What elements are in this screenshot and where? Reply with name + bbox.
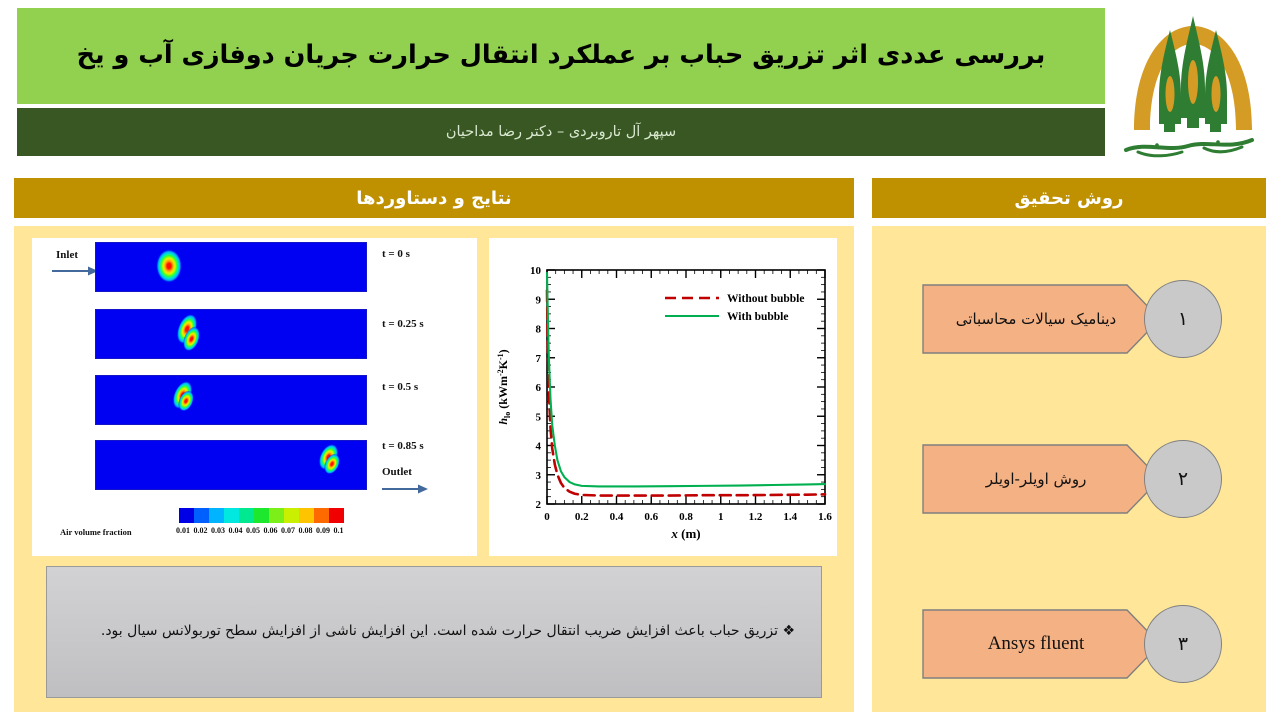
heat-transfer-coefficient-chart: 00.20.40.60.811.21.41.62345678910x (m)hl…: [489, 238, 837, 556]
conclusion-body: تزریق حباب باعث افزایش ضریب انتقال حرارت…: [101, 623, 778, 639]
colorbar-swatch-10: [329, 508, 344, 523]
contour-strip-t0: [95, 242, 367, 292]
step-arrow-shape-icon: [922, 609, 1162, 679]
poster-title-bar: بررسی عددی اثر تزریق حباب بر عملکرد انتق…: [17, 8, 1105, 104]
y-tick-1: 3: [536, 470, 542, 482]
colorbar-tick-5: 0.06: [264, 526, 278, 535]
colorbar-tick-9: 0.1: [334, 526, 344, 535]
colorbar-tick-4: 0.05: [246, 526, 260, 535]
colorbar-swatch-5: [254, 508, 269, 523]
x-tick-5: 1: [718, 511, 724, 523]
method-step-2[interactable]: روش اویلر-اویلر ۲: [922, 444, 1232, 514]
x-tick-3: 0.6: [644, 511, 658, 523]
x-tick-8: 1.6: [818, 511, 832, 523]
colorbar: [179, 508, 344, 523]
contour-time-label-0: t = 0 s: [382, 248, 410, 260]
conclusion-text: ❖ تزریق حباب باعث افزایش ضریب انتقال حرا…: [47, 619, 821, 645]
poster-authors: سپهر آل تاروبردی – دکتر رضا مداحیان: [446, 124, 676, 140]
legend-label-0: Without bubble: [727, 293, 804, 305]
section-header-method-label: روش تحقیق: [1015, 188, 1124, 209]
x-tick-4: 0.8: [679, 511, 693, 523]
colorbar-tick-labels: 0.010.020.030.040.050.060.070.080.090.1: [176, 526, 366, 535]
inlet-arrow-icon: [52, 265, 98, 277]
colorbar-swatch-8: [299, 508, 314, 523]
step-arrow-shape-icon: [922, 284, 1162, 354]
colorbar-swatch-2: [209, 508, 224, 523]
y-tick-7: 9: [536, 294, 542, 306]
plot-frame: [547, 270, 825, 504]
colorbar-tick-8: 0.09: [316, 526, 330, 535]
colorbar-title: Air volume fraction: [60, 527, 132, 537]
contour-time-label-2: t = 0.5 s: [382, 381, 418, 393]
step-arrow-shape-icon: [922, 444, 1162, 514]
outlet-label: Outlet: [382, 466, 412, 478]
method-step-1[interactable]: دینامیک سیالات محاسباتی ۱: [922, 284, 1232, 354]
y-tick-0: 2: [536, 499, 542, 511]
outlet-arrow-icon: [382, 483, 428, 495]
y-tick-8: 10: [530, 265, 542, 277]
contour-time-label-3: t = 0.85 s: [382, 440, 424, 452]
y-tick-3: 5: [536, 411, 542, 423]
colorbar-swatch-6: [269, 508, 284, 523]
colorbar-tick-2: 0.03: [211, 526, 225, 535]
colorbar-swatch-7: [284, 508, 299, 523]
method-step-2-number: ۲: [1144, 440, 1222, 518]
x-tick-1: 0.2: [575, 511, 589, 523]
contour-strip-t085: [95, 440, 367, 490]
line-chart-card: 00.20.40.60.811.21.41.62345678910x (m)hl…: [489, 238, 837, 556]
contour-strip-t025: [95, 309, 367, 359]
conclusion-box: ❖ تزریق حباب باعث افزایش ضریب انتقال حرا…: [46, 566, 822, 698]
method-step-3-number: ۳: [1144, 605, 1222, 683]
poster-author-bar: سپهر آل تاروبردی – دکتر رضا مداحیان: [17, 108, 1105, 156]
colorbar-swatch-0: [179, 508, 194, 523]
conclusion-bullet: ❖: [782, 623, 795, 639]
tarbiat-modares-logo-icon: [1112, 2, 1274, 166]
colorbar-tick-3: 0.04: [229, 526, 243, 535]
poster-title: بررسی عددی اثر تزریق حباب بر عملکرد انتق…: [63, 39, 1060, 72]
y-tick-2: 4: [536, 441, 542, 453]
x-tick-7: 1.4: [783, 511, 797, 523]
method-step-3[interactable]: Ansys fluent ۳: [922, 609, 1232, 679]
colorbar-swatch-9: [314, 508, 329, 523]
inlet-label: Inlet: [56, 249, 78, 261]
colorbar-swatch-1: [194, 508, 209, 523]
section-header-results-label: نتایج و دستاوردها: [356, 188, 511, 209]
bubble-blob: [156, 249, 182, 283]
y-axis-label: hlo (kWm-2K-1): [496, 349, 512, 424]
legend-label-1: With bubble: [727, 311, 788, 323]
colorbar-tick-0: 0.01: [176, 526, 190, 535]
y-tick-6: 8: [536, 324, 542, 336]
colorbar-tick-6: 0.07: [281, 526, 295, 535]
university-logo: [1112, 2, 1274, 166]
method-step-1-number: ۱: [1144, 280, 1222, 358]
colorbar-tick-7: 0.08: [299, 526, 313, 535]
colorbar-swatch-3: [224, 508, 239, 523]
section-header-results: نتایج و دستاوردها: [14, 178, 854, 218]
contour-time-label-1: t = 0.25 s: [382, 318, 424, 330]
section-header-method: روش تحقیق: [872, 178, 1266, 218]
poster-root: بررسی عددی اثر تزریق حباب بر عملکرد انتق…: [0, 0, 1280, 720]
x-tick-6: 1.2: [749, 511, 763, 523]
x-axis-label: x (m): [670, 526, 700, 541]
contour-strip-t05: [95, 375, 367, 425]
colorbar-swatch-4: [239, 508, 254, 523]
y-tick-4: 6: [536, 382, 542, 394]
x-tick-0: 0: [544, 511, 550, 523]
colorbar-tick-1: 0.02: [194, 526, 208, 535]
y-tick-5: 7: [536, 353, 542, 365]
x-tick-2: 0.4: [610, 511, 624, 523]
